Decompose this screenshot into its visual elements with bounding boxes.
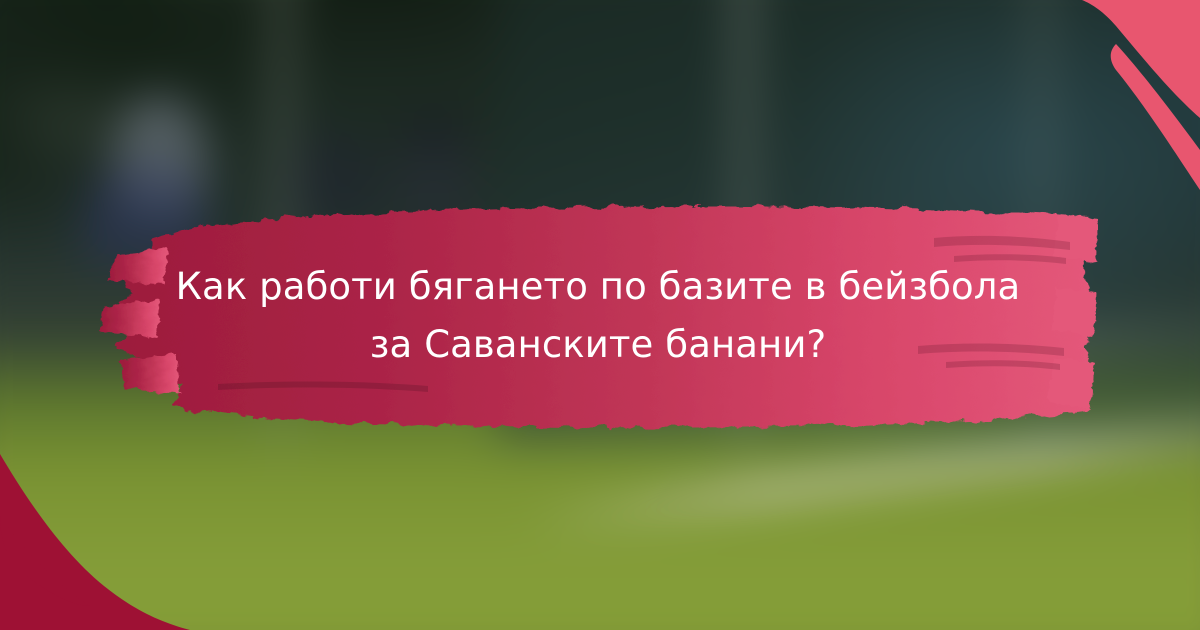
brush-edge-chip bbox=[100, 300, 160, 338]
brush-edge-chip bbox=[1054, 214, 1098, 262]
page-title: Как работи бягането по базите в бейзбола… bbox=[158, 258, 1038, 374]
title-line-1: Как работи бягането по базите в бейзбола bbox=[158, 258, 1038, 316]
title-banner: Как работи бягането по базите в бейзбола… bbox=[98, 196, 1098, 436]
brush-edge-chip bbox=[1052, 288, 1096, 336]
title-line-2: за Саванските банани? bbox=[158, 316, 1038, 374]
social-share-card: Как работи бягането по базите в бейзбола… bbox=[0, 0, 1200, 630]
